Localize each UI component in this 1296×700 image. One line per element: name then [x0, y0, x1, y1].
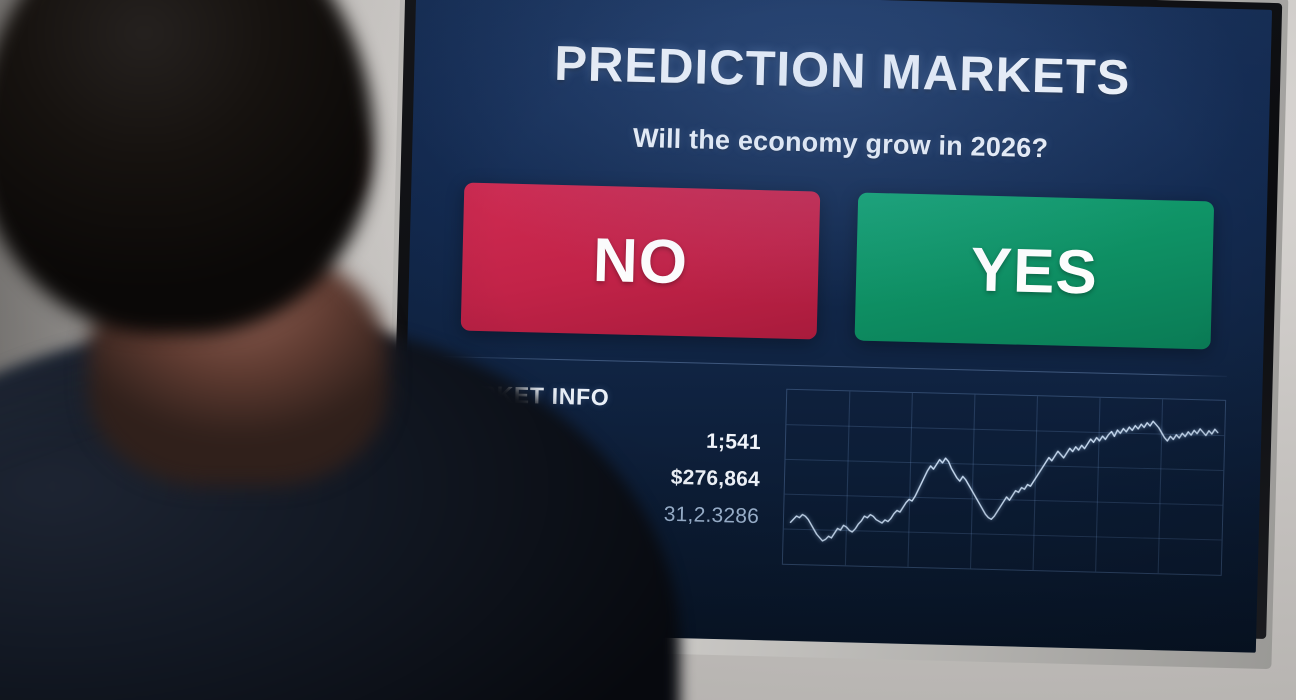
price-chart	[782, 389, 1226, 576]
info-value: 1;541	[706, 430, 761, 455]
vote-buttons: NO YES	[444, 182, 1231, 350]
price-chart-panel	[782, 389, 1226, 576]
market-info-rows: Wask 1;541 Volu1 oJune $276,864 31,2.328…	[439, 423, 761, 529]
market-info-panel: MARKET INFO Wask 1;541 Volu1 oJune $276,…	[438, 380, 762, 564]
price-chart-svg	[783, 390, 1225, 575]
table-row: Volu1 oJune $276,864	[440, 460, 761, 492]
prediction-market-app: PREDICTION MARKETS Will the economy grow…	[400, 0, 1272, 653]
table-row: Wask 1;541	[441, 423, 762, 455]
monitor-screen: PREDICTION MARKETS Will the economy grow…	[400, 0, 1272, 653]
info-value: 31,2.3286	[664, 503, 760, 529]
info-label: Volu1 oJune	[440, 461, 554, 487]
info-label: Wask	[441, 424, 492, 448]
lower-section: MARKET INFO Wask 1;541 Volu1 oJune $276,…	[438, 380, 1226, 576]
no-button[interactable]: NO	[461, 183, 821, 340]
yes-button[interactable]: YES	[855, 193, 1215, 350]
table-row: 31,2.3286	[439, 497, 760, 529]
scene: PREDICTION MARKETS Will the economy grow…	[0, 0, 1296, 700]
monitor-stand	[295, 639, 369, 700]
wall-shadow	[0, 0, 420, 700]
section-divider	[443, 356, 1227, 377]
info-value: $276,864	[670, 466, 760, 492]
monitor: PREDICTION MARKETS Will the economy grow…	[384, 0, 1289, 669]
market-info-heading: MARKET INFO	[442, 380, 763, 415]
